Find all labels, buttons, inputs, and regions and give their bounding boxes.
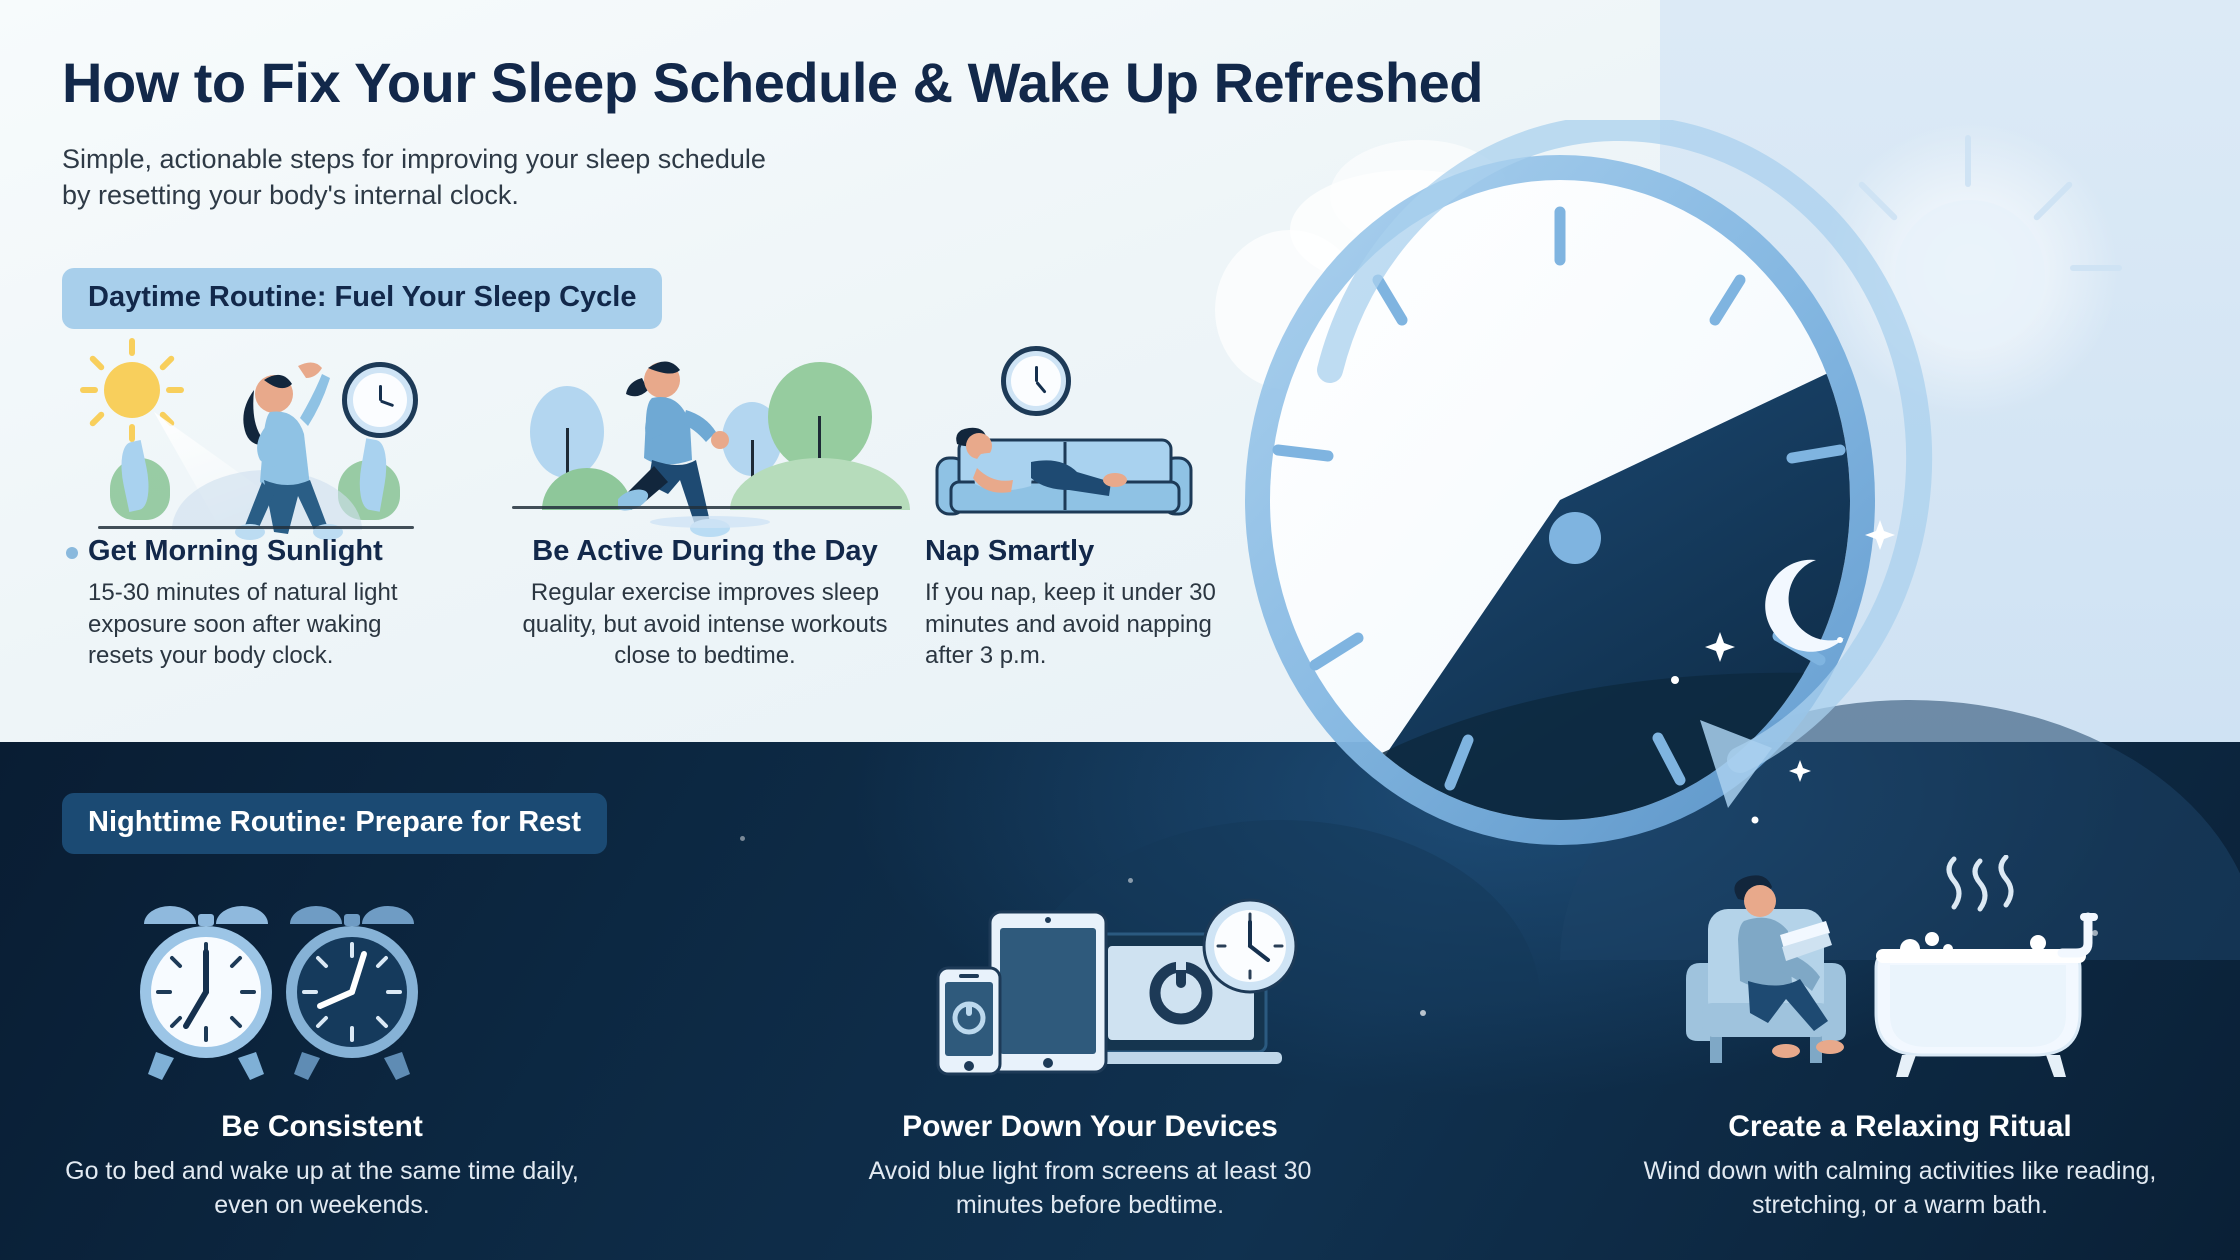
clock-minute-hand: [380, 400, 394, 408]
wall-clock-icon: [1001, 346, 1071, 416]
sun-ray: [166, 387, 184, 393]
card-create-a-relaxing-ritual: Create a Relaxing Ritual Wind down with …: [1640, 1110, 2160, 1223]
background-star: [2092, 930, 2098, 936]
wall-clock-face: [1011, 356, 1061, 406]
bathtub-icon: [1876, 857, 2098, 1077]
card-title: Create a Relaxing Ritual: [1640, 1110, 2160, 1144]
clock-hour-hand: [379, 385, 382, 401]
card-be-consistent: Be Consistent Go to bed and wake up at t…: [62, 1110, 582, 1223]
card-get-morning-sunlight: Get Morning Sunlight 15-30 minutes of na…: [62, 340, 452, 672]
clock-minute-hand: [1035, 381, 1046, 394]
card-body: Avoid blue light from screens at least 3…: [830, 1155, 1350, 1223]
background-star: [1420, 1010, 1426, 1016]
background-star: [740, 836, 745, 841]
wall-clock-icon: [1204, 900, 1296, 992]
phone-icon: [938, 968, 1000, 1074]
sun-ray: [89, 411, 106, 428]
sun-ray: [159, 355, 176, 372]
sun-icon: [104, 362, 160, 418]
page-title: How to Fix Your Sleep Schedule & Wake Up…: [62, 50, 1682, 115]
page-subtitle: Simple, actionable steps for improving y…: [62, 142, 982, 214]
sun-ray-bg-1: [1965, 135, 1971, 187]
card-body: Wind down with calming activities like r…: [1640, 1155, 2160, 1223]
runner-shadow: [650, 516, 770, 528]
devices-svg: [920, 880, 1300, 1080]
wall-clock-face: [353, 373, 407, 427]
daytime-cards: Get Morning Sunlight 15-30 minutes of na…: [0, 340, 1300, 720]
sun-ray: [129, 338, 135, 356]
ground-line: [512, 506, 902, 509]
card-body: 15-30 minutes of natural light exposure …: [88, 577, 452, 672]
badge-nighttime-routine: Nighttime Routine: Prepare for Rest: [62, 793, 607, 854]
card-nap-smartly: Nap Smartly If you nap, keep it under 30…: [925, 340, 1235, 672]
sun-ray: [129, 424, 135, 442]
card-be-active-during-the-day: Be Active During the Day Regular exercis…: [500, 340, 910, 672]
illustration-morning-sunlight: [62, 340, 452, 535]
illustration-napping: [925, 340, 1235, 535]
alarm-clock-dark: [286, 906, 418, 1080]
clock-center-hub: [1549, 512, 1601, 564]
illustration-running-person: [500, 340, 910, 535]
napping-person-icon: [947, 424, 1147, 504]
illustration-relaxing-ritual: [1680, 855, 2140, 1080]
card-title: Power Down Your Devices: [830, 1110, 1350, 1144]
relaxing-ritual-svg: [1680, 855, 2140, 1080]
infographic-root: How to Fix Your Sleep Schedule & Wake Up…: [0, 0, 2240, 1260]
card-title: Nap Smartly: [925, 535, 1235, 568]
tablet-icon: [990, 912, 1106, 1072]
illustration-devices: [920, 880, 1300, 1080]
bullet-dot: [66, 547, 78, 559]
ground-line: [98, 526, 414, 529]
card-body: Go to bed and wake up at the same time d…: [62, 1155, 582, 1223]
card-power-down-your-devices: Power Down Your Devices Avoid blue light…: [830, 1110, 1350, 1223]
background-star: [1128, 878, 1133, 883]
illustration-two-alarm-clocks: [130, 880, 430, 1080]
alarm-clocks-svg: [130, 880, 430, 1080]
armchair-reader-icon: [1686, 875, 1846, 1063]
badge-daytime-routine: Daytime Routine: Fuel Your Sleep Cycle: [62, 268, 662, 329]
card-text-block: Get Morning Sunlight 15-30 minutes of na…: [62, 535, 452, 672]
card-title: Be Consistent: [62, 1110, 582, 1144]
card-body: Regular exercise improves sleep quality,…: [500, 577, 910, 672]
alarm-clock-light: [140, 906, 272, 1080]
subtitle-line-2: by resetting your body's internal clock.: [62, 178, 982, 214]
wall-clock-icon: [342, 362, 418, 438]
subtitle-line-1: Simple, actionable steps for improving y…: [62, 142, 982, 178]
sun-ray: [80, 387, 98, 393]
running-person-icon: [618, 348, 818, 543]
sun-ray: [89, 355, 106, 372]
card-title: Get Morning Sunlight: [88, 535, 452, 568]
card-text-block: Nap Smartly If you nap, keep it under 30…: [925, 535, 1235, 672]
clock-hour-hand: [1035, 366, 1038, 382]
card-text-block: Be Active During the Day Regular exercis…: [500, 535, 910, 672]
card-body: If you nap, keep it under 30 minutes and…: [925, 577, 1235, 672]
sun-ray-bg-3: [2070, 265, 2122, 271]
